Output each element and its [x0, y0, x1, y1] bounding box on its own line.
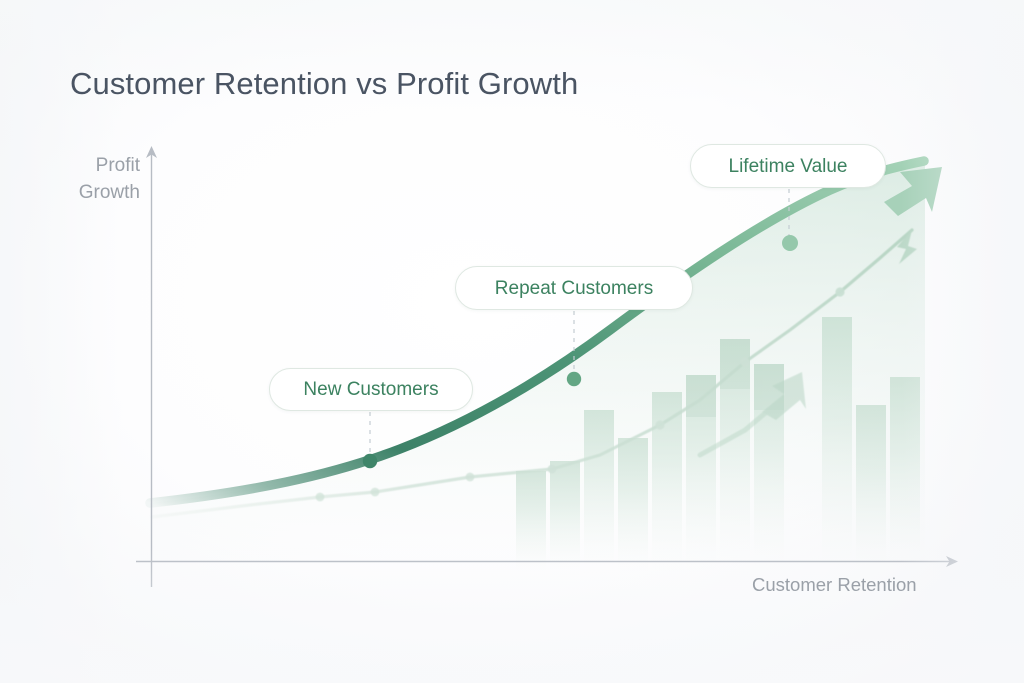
annotation-lifetime-value[interactable]: Lifetime Value — [690, 144, 886, 188]
y-axis-label-line1: Profit — [96, 155, 140, 176]
data-point-lifetime-value — [782, 235, 798, 251]
y-axis-label-line2: Growth — [79, 182, 140, 203]
y-axis-label: Profit Growth — [22, 152, 140, 206]
data-point-repeat-customers — [567, 372, 581, 386]
x-axis-label: Customer Retention — [752, 572, 917, 598]
annotation-new-customers[interactable]: New Customers — [269, 368, 473, 411]
chart-canvas: Customer Retention vs Profit Growth Prof… — [0, 0, 1024, 683]
area-fill — [150, 160, 925, 561]
data-point-new-customers — [363, 454, 377, 468]
page-title: Customer Retention vs Profit Growth — [70, 62, 578, 106]
annotation-repeat-customers[interactable]: Repeat Customers — [455, 266, 693, 310]
